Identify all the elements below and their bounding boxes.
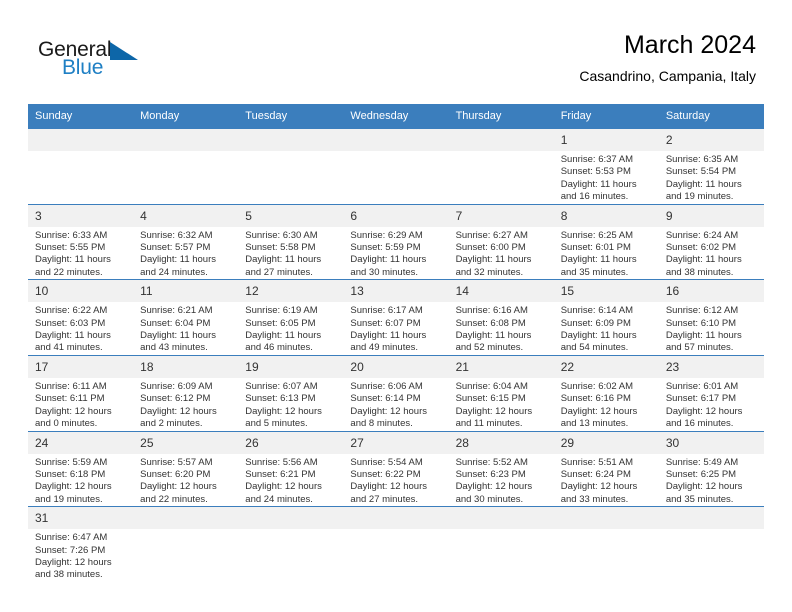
day-number: 4 — [133, 205, 238, 227]
day-details: Sunrise: 6:04 AMSunset: 6:15 PMDaylight:… — [449, 378, 554, 431]
day-number — [449, 507, 554, 529]
calendar-day-cell-empty — [238, 507, 343, 582]
day-detail-line: Sunset: 6:05 PM — [245, 318, 337, 330]
day-detail-line: Sunrise: 6:24 AM — [666, 230, 758, 242]
day-detail-line: Sunrise: 5:56 AM — [245, 457, 337, 469]
day-detail-line: Sunset: 5:57 PM — [140, 242, 232, 254]
day-number: 19 — [238, 356, 343, 378]
day-detail-line: Daylight: 11 hours — [561, 254, 653, 266]
day-number: 18 — [133, 356, 238, 378]
day-detail-line: Sunset: 6:20 PM — [140, 469, 232, 481]
day-details: Sunrise: 6:11 AMSunset: 6:11 PMDaylight:… — [28, 378, 133, 431]
day-detail-line: and 52 minutes. — [456, 342, 548, 354]
calendar-day-cell[interactable]: 19Sunrise: 6:07 AMSunset: 6:13 PMDayligh… — [238, 355, 343, 431]
day-detail-line: Sunset: 6:02 PM — [666, 242, 758, 254]
calendar-day-cell[interactable]: 2Sunrise: 6:35 AMSunset: 5:54 PMDaylight… — [659, 129, 764, 205]
page-title: March 2024 — [579, 30, 756, 60]
day-number: 2 — [659, 129, 764, 151]
day-number: 12 — [238, 280, 343, 302]
day-detail-line: Sunrise: 5:52 AM — [456, 457, 548, 469]
day-detail-line: Daylight: 12 hours — [350, 481, 442, 493]
day-detail-line: Sunset: 6:22 PM — [350, 469, 442, 481]
calendar-page: General Blue March 2024 Casandrino, Camp… — [0, 0, 792, 612]
day-detail-line: Daylight: 12 hours — [140, 406, 232, 418]
day-detail-line: and 54 minutes. — [561, 342, 653, 354]
day-number: 6 — [343, 205, 448, 227]
day-detail-line: Daylight: 12 hours — [666, 481, 758, 493]
day-detail-line: and 22 minutes. — [35, 267, 127, 279]
day-detail-line: and 8 minutes. — [350, 418, 442, 430]
day-detail-line: Daylight: 11 hours — [666, 179, 758, 191]
day-detail-line: and 46 minutes. — [245, 342, 337, 354]
day-detail-line: and 41 minutes. — [35, 342, 127, 354]
day-details: Sunrise: 5:51 AMSunset: 6:24 PMDaylight:… — [554, 454, 659, 507]
day-detail-line: Sunrise: 6:37 AM — [561, 154, 653, 166]
day-number: 8 — [554, 205, 659, 227]
calendar-day-cell-empty — [133, 129, 238, 205]
calendar-day-cell-empty — [238, 129, 343, 205]
day-details — [554, 529, 659, 532]
day-detail-line: and 30 minutes. — [456, 494, 548, 506]
calendar-day-cell[interactable]: 4Sunrise: 6:32 AMSunset: 5:57 PMDaylight… — [133, 204, 238, 280]
calendar-day-cell[interactable]: 5Sunrise: 6:30 AMSunset: 5:58 PMDaylight… — [238, 204, 343, 280]
weekday-header-tuesday: Tuesday — [238, 104, 343, 129]
weekday-header-row: SundayMondayTuesdayWednesdayThursdayFrid… — [28, 104, 764, 129]
day-detail-line: Sunrise: 6:25 AM — [561, 230, 653, 242]
day-detail-line: and 32 minutes. — [456, 267, 548, 279]
day-details: Sunrise: 6:21 AMSunset: 6:04 PMDaylight:… — [133, 302, 238, 355]
day-number — [449, 129, 554, 151]
day-number — [238, 507, 343, 529]
calendar-day-cell[interactable]: 3Sunrise: 6:33 AMSunset: 5:55 PMDaylight… — [28, 204, 133, 280]
day-number: 16 — [659, 280, 764, 302]
day-detail-line: Daylight: 12 hours — [35, 406, 127, 418]
day-details: Sunrise: 6:01 AMSunset: 6:17 PMDaylight:… — [659, 378, 764, 431]
day-number: 7 — [449, 205, 554, 227]
day-detail-line: Sunrise: 6:07 AM — [245, 381, 337, 393]
day-detail-line: Daylight: 11 hours — [456, 330, 548, 342]
day-details — [449, 151, 554, 154]
day-detail-line: Sunrise: 5:57 AM — [140, 457, 232, 469]
day-details: Sunrise: 5:54 AMSunset: 6:22 PMDaylight:… — [343, 454, 448, 507]
day-detail-line: Sunrise: 6:02 AM — [561, 381, 653, 393]
day-detail-line: Sunrise: 6:04 AM — [456, 381, 548, 393]
day-number: 5 — [238, 205, 343, 227]
calendar-day-cell-empty — [343, 507, 448, 582]
day-detail-line: and 13 minutes. — [561, 418, 653, 430]
day-number: 25 — [133, 432, 238, 454]
day-details — [133, 529, 238, 532]
day-detail-line: Sunset: 6:21 PM — [245, 469, 337, 481]
calendar-day-cell[interactable]: 25Sunrise: 5:57 AMSunset: 6:20 PMDayligh… — [133, 431, 238, 507]
day-detail-line: and 24 minutes. — [245, 494, 337, 506]
day-number: 29 — [554, 432, 659, 454]
day-detail-line: and 16 minutes. — [561, 191, 653, 203]
day-number: 20 — [343, 356, 448, 378]
day-detail-line: Sunset: 5:55 PM — [35, 242, 127, 254]
day-detail-line: Daylight: 11 hours — [140, 254, 232, 266]
day-number: 3 — [28, 205, 133, 227]
calendar-day-cell[interactable]: 7Sunrise: 6:27 AMSunset: 6:00 PMDaylight… — [449, 204, 554, 280]
day-details — [659, 529, 764, 532]
day-detail-line: Sunrise: 6:16 AM — [456, 305, 548, 317]
day-detail-line: Sunset: 5:58 PM — [245, 242, 337, 254]
page-header: General Blue March 2024 Casandrino, Camp… — [0, 0, 792, 100]
day-details: Sunrise: 6:27 AMSunset: 6:00 PMDaylight:… — [449, 227, 554, 280]
day-detail-line: Sunrise: 6:22 AM — [35, 305, 127, 317]
day-detail-line: Daylight: 11 hours — [561, 330, 653, 342]
calendar-week-row: 1Sunrise: 6:37 AMSunset: 5:53 PMDaylight… — [28, 129, 764, 205]
day-detail-line: Sunset: 6:16 PM — [561, 393, 653, 405]
calendar-day-cell[interactable]: 23Sunrise: 6:01 AMSunset: 6:17 PMDayligh… — [659, 355, 764, 431]
day-detail-line: Sunrise: 6:35 AM — [666, 154, 758, 166]
day-number: 31 — [28, 507, 133, 529]
brand-logo[interactable]: General Blue — [38, 39, 268, 91]
day-detail-line: and 43 minutes. — [140, 342, 232, 354]
day-number: 30 — [659, 432, 764, 454]
calendar-day-cell-empty — [554, 507, 659, 582]
day-detail-line: Sunrise: 6:14 AM — [561, 305, 653, 317]
day-number — [554, 507, 659, 529]
day-detail-line: Sunrise: 6:21 AM — [140, 305, 232, 317]
day-detail-line: Daylight: 12 hours — [456, 481, 548, 493]
day-detail-line: Sunrise: 6:11 AM — [35, 381, 127, 393]
day-detail-line: Sunrise: 5:54 AM — [350, 457, 442, 469]
day-detail-line: Daylight: 11 hours — [140, 330, 232, 342]
day-number: 27 — [343, 432, 448, 454]
day-detail-line: and 33 minutes. — [561, 494, 653, 506]
day-detail-line: Sunrise: 6:30 AM — [245, 230, 337, 242]
day-detail-line: and 35 minutes. — [666, 494, 758, 506]
day-detail-line: Sunset: 6:23 PM — [456, 469, 548, 481]
day-detail-line: and 27 minutes. — [350, 494, 442, 506]
day-detail-line: Sunset: 6:07 PM — [350, 318, 442, 330]
day-detail-line: Daylight: 12 hours — [561, 406, 653, 418]
day-detail-line: Daylight: 12 hours — [350, 406, 442, 418]
day-detail-line: and 38 minutes. — [666, 267, 758, 279]
day-detail-line: and 38 minutes. — [35, 569, 127, 581]
day-detail-line: Daylight: 12 hours — [35, 481, 127, 493]
day-detail-line: Daylight: 11 hours — [35, 254, 127, 266]
day-details: Sunrise: 6:07 AMSunset: 6:13 PMDaylight:… — [238, 378, 343, 431]
day-number: 26 — [238, 432, 343, 454]
day-number: 15 — [554, 280, 659, 302]
day-detail-line: Daylight: 11 hours — [350, 330, 442, 342]
day-detail-line: Sunrise: 6:06 AM — [350, 381, 442, 393]
day-detail-line: Sunrise: 6:29 AM — [350, 230, 442, 242]
day-number: 17 — [28, 356, 133, 378]
day-detail-line: and 24 minutes. — [140, 267, 232, 279]
day-details: Sunrise: 6:30 AMSunset: 5:58 PMDaylight:… — [238, 227, 343, 280]
day-details: Sunrise: 6:09 AMSunset: 6:12 PMDaylight:… — [133, 378, 238, 431]
calendar-day-cell[interactable]: 11Sunrise: 6:21 AMSunset: 6:04 PMDayligh… — [133, 280, 238, 356]
calendar-day-cell[interactable]: 21Sunrise: 6:04 AMSunset: 6:15 PMDayligh… — [449, 355, 554, 431]
day-details — [449, 529, 554, 532]
day-details: Sunrise: 6:25 AMSunset: 6:01 PMDaylight:… — [554, 227, 659, 280]
day-detail-line: Daylight: 12 hours — [666, 406, 758, 418]
weekday-header-thursday: Thursday — [449, 104, 554, 129]
day-detail-line: and 19 minutes. — [35, 494, 127, 506]
calendar-day-cell-empty — [133, 507, 238, 582]
calendar-day-cell[interactable]: 31Sunrise: 6:47 AMSunset: 7:26 PMDayligh… — [28, 507, 133, 582]
day-number: 13 — [343, 280, 448, 302]
day-detail-line: Daylight: 12 hours — [561, 481, 653, 493]
weekday-header-monday: Monday — [133, 104, 238, 129]
weekday-header-sunday: Sunday — [28, 104, 133, 129]
day-detail-line: and 19 minutes. — [666, 191, 758, 203]
day-detail-line: Sunset: 6:00 PM — [456, 242, 548, 254]
day-detail-line: Sunrise: 6:09 AM — [140, 381, 232, 393]
day-details: Sunrise: 5:59 AMSunset: 6:18 PMDaylight:… — [28, 454, 133, 507]
page-subtitle: Casandrino, Campania, Italy — [579, 66, 756, 86]
day-detail-line: Sunset: 5:59 PM — [350, 242, 442, 254]
day-detail-line: and 22 minutes. — [140, 494, 232, 506]
calendar-day-cell[interactable]: 24Sunrise: 5:59 AMSunset: 6:18 PMDayligh… — [28, 431, 133, 507]
flag-triangle-icon — [110, 42, 138, 64]
weekday-header-saturday: Saturday — [659, 104, 764, 129]
day-detail-line: and 11 minutes. — [456, 418, 548, 430]
calendar-day-cell-empty — [659, 507, 764, 582]
day-number — [659, 507, 764, 529]
day-detail-line: Daylight: 11 hours — [561, 179, 653, 191]
day-detail-line: Sunset: 6:15 PM — [456, 393, 548, 405]
day-number: 9 — [659, 205, 764, 227]
day-details — [343, 151, 448, 154]
day-details: Sunrise: 5:49 AMSunset: 6:25 PMDaylight:… — [659, 454, 764, 507]
day-detail-line: and 49 minutes. — [350, 342, 442, 354]
calendar-day-cell-empty — [449, 129, 554, 205]
day-detail-line: and 5 minutes. — [245, 418, 337, 430]
day-detail-line: Sunset: 5:54 PM — [666, 166, 758, 178]
day-number — [28, 129, 133, 151]
day-details — [343, 529, 448, 532]
calendar-day-cell[interactable]: 18Sunrise: 6:09 AMSunset: 6:12 PMDayligh… — [133, 355, 238, 431]
day-detail-line: Sunrise: 5:49 AM — [666, 457, 758, 469]
calendar-day-cell[interactable]: 14Sunrise: 6:16 AMSunset: 6:08 PMDayligh… — [449, 280, 554, 356]
day-detail-line: Sunset: 6:08 PM — [456, 318, 548, 330]
day-detail-line: Sunrise: 6:33 AM — [35, 230, 127, 242]
day-details: Sunrise: 5:52 AMSunset: 6:23 PMDaylight:… — [449, 454, 554, 507]
day-detail-line: Sunset: 6:12 PM — [140, 393, 232, 405]
day-detail-line: Sunrise: 6:12 AM — [666, 305, 758, 317]
day-detail-line: Sunset: 6:11 PM — [35, 393, 127, 405]
day-detail-line: Sunset: 5:53 PM — [561, 166, 653, 178]
calendar-day-cell[interactable]: 28Sunrise: 5:52 AMSunset: 6:23 PMDayligh… — [449, 431, 554, 507]
calendar-week-row: 10Sunrise: 6:22 AMSunset: 6:03 PMDayligh… — [28, 280, 764, 356]
day-detail-line: Sunrise: 5:59 AM — [35, 457, 127, 469]
calendar-day-cell[interactable]: 29Sunrise: 5:51 AMSunset: 6:24 PMDayligh… — [554, 431, 659, 507]
day-number: 1 — [554, 129, 659, 151]
day-details: Sunrise: 6:14 AMSunset: 6:09 PMDaylight:… — [554, 302, 659, 355]
day-details: Sunrise: 6:35 AMSunset: 5:54 PMDaylight:… — [659, 151, 764, 204]
calendar-week-row: 3Sunrise: 6:33 AMSunset: 5:55 PMDaylight… — [28, 204, 764, 280]
calendar-day-cell[interactable]: 17Sunrise: 6:11 AMSunset: 6:11 PMDayligh… — [28, 355, 133, 431]
calendar-day-cell[interactable]: 8Sunrise: 6:25 AMSunset: 6:01 PMDaylight… — [554, 204, 659, 280]
day-detail-line: and 35 minutes. — [561, 267, 653, 279]
calendar-week-row: 17Sunrise: 6:11 AMSunset: 6:11 PMDayligh… — [28, 355, 764, 431]
calendar-day-cell-empty — [28, 129, 133, 205]
day-detail-line: Daylight: 12 hours — [456, 406, 548, 418]
calendar-day-cell[interactable]: 20Sunrise: 6:06 AMSunset: 6:14 PMDayligh… — [343, 355, 448, 431]
day-detail-line: Sunset: 6:10 PM — [666, 318, 758, 330]
day-detail-line: and 0 minutes. — [35, 418, 127, 430]
day-detail-line: Daylight: 11 hours — [666, 254, 758, 266]
weekday-header-friday: Friday — [554, 104, 659, 129]
day-detail-line: Daylight: 11 hours — [35, 330, 127, 342]
calendar-week-row: 24Sunrise: 5:59 AMSunset: 6:18 PMDayligh… — [28, 431, 764, 507]
calendar-week-row: 31Sunrise: 6:47 AMSunset: 7:26 PMDayligh… — [28, 507, 764, 582]
day-detail-line: Sunset: 6:09 PM — [561, 318, 653, 330]
brand-name-bottom: Blue — [62, 57, 103, 78]
calendar-grid: SundayMondayTuesdayWednesdayThursdayFrid… — [28, 104, 764, 582]
day-detail-line: Sunset: 6:25 PM — [666, 469, 758, 481]
day-detail-line: and 27 minutes. — [245, 267, 337, 279]
day-number: 11 — [133, 280, 238, 302]
calendar-day-cell[interactable]: 22Sunrise: 6:02 AMSunset: 6:16 PMDayligh… — [554, 355, 659, 431]
day-detail-line: Sunrise: 6:27 AM — [456, 230, 548, 242]
day-detail-line: Daylight: 11 hours — [245, 254, 337, 266]
calendar-day-cell-empty — [449, 507, 554, 582]
day-detail-line: Daylight: 11 hours — [666, 330, 758, 342]
day-detail-line: Sunset: 6:13 PM — [245, 393, 337, 405]
day-number: 22 — [554, 356, 659, 378]
day-detail-line: Sunset: 6:04 PM — [140, 318, 232, 330]
calendar-day-cell-empty — [343, 129, 448, 205]
day-detail-line: Sunset: 7:26 PM — [35, 545, 127, 557]
day-number: 23 — [659, 356, 764, 378]
day-detail-line: and 2 minutes. — [140, 418, 232, 430]
calendar-day-cell[interactable]: 9Sunrise: 6:24 AMSunset: 6:02 PMDaylight… — [659, 204, 764, 280]
day-detail-line: Daylight: 12 hours — [140, 481, 232, 493]
day-details: Sunrise: 5:57 AMSunset: 6:20 PMDaylight:… — [133, 454, 238, 507]
day-detail-line: Sunset: 6:17 PM — [666, 393, 758, 405]
calendar-day-cell[interactable]: 15Sunrise: 6:14 AMSunset: 6:09 PMDayligh… — [554, 280, 659, 356]
day-number — [133, 507, 238, 529]
day-details: Sunrise: 6:17 AMSunset: 6:07 PMDaylight:… — [343, 302, 448, 355]
day-detail-line: Daylight: 11 hours — [245, 330, 337, 342]
calendar-day-cell[interactable]: 12Sunrise: 6:19 AMSunset: 6:05 PMDayligh… — [238, 280, 343, 356]
calendar-day-cell[interactable]: 1Sunrise: 6:37 AMSunset: 5:53 PMDaylight… — [554, 129, 659, 205]
calendar-day-cell[interactable]: 27Sunrise: 5:54 AMSunset: 6:22 PMDayligh… — [343, 431, 448, 507]
day-details: Sunrise: 6:47 AMSunset: 7:26 PMDaylight:… — [28, 529, 133, 582]
day-detail-line: Sunrise: 6:19 AM — [245, 305, 337, 317]
calendar-head: SundayMondayTuesdayWednesdayThursdayFrid… — [28, 104, 764, 129]
day-detail-line: Sunrise: 6:01 AM — [666, 381, 758, 393]
day-details: Sunrise: 6:37 AMSunset: 5:53 PMDaylight:… — [554, 151, 659, 204]
day-detail-line: Daylight: 12 hours — [35, 557, 127, 569]
day-detail-line: Sunset: 6:01 PM — [561, 242, 653, 254]
day-details — [238, 151, 343, 154]
day-detail-line: and 16 minutes. — [666, 418, 758, 430]
day-number: 21 — [449, 356, 554, 378]
day-detail-line: Sunrise: 6:32 AM — [140, 230, 232, 242]
calendar-day-cell[interactable]: 26Sunrise: 5:56 AMSunset: 6:21 PMDayligh… — [238, 431, 343, 507]
day-detail-line: Daylight: 12 hours — [245, 406, 337, 418]
day-details: Sunrise: 6:16 AMSunset: 6:08 PMDaylight:… — [449, 302, 554, 355]
calendar-day-cell[interactable]: 16Sunrise: 6:12 AMSunset: 6:10 PMDayligh… — [659, 280, 764, 356]
day-details: Sunrise: 5:56 AMSunset: 6:21 PMDaylight:… — [238, 454, 343, 507]
weekday-header-wednesday: Wednesday — [343, 104, 448, 129]
day-number — [238, 129, 343, 151]
day-detail-line: Daylight: 12 hours — [245, 481, 337, 493]
day-detail-line: Sunrise: 6:47 AM — [35, 532, 127, 544]
calendar-day-cell[interactable]: 10Sunrise: 6:22 AMSunset: 6:03 PMDayligh… — [28, 280, 133, 356]
day-details: Sunrise: 6:06 AMSunset: 6:14 PMDaylight:… — [343, 378, 448, 431]
day-number — [343, 507, 448, 529]
day-details: Sunrise: 6:02 AMSunset: 6:16 PMDaylight:… — [554, 378, 659, 431]
day-number: 28 — [449, 432, 554, 454]
day-detail-line: Sunrise: 5:51 AM — [561, 457, 653, 469]
day-details: Sunrise: 6:19 AMSunset: 6:05 PMDaylight:… — [238, 302, 343, 355]
day-details: Sunrise: 6:29 AMSunset: 5:59 PMDaylight:… — [343, 227, 448, 280]
day-detail-line: Sunset: 6:14 PM — [350, 393, 442, 405]
title-block: March 2024 Casandrino, Campania, Italy — [579, 30, 756, 86]
day-detail-line: Sunset: 6:03 PM — [35, 318, 127, 330]
day-detail-line: Sunset: 6:18 PM — [35, 469, 127, 481]
day-details — [238, 529, 343, 532]
day-details: Sunrise: 6:22 AMSunset: 6:03 PMDaylight:… — [28, 302, 133, 355]
day-detail-line: and 57 minutes. — [666, 342, 758, 354]
calendar-day-cell[interactable]: 13Sunrise: 6:17 AMSunset: 6:07 PMDayligh… — [343, 280, 448, 356]
calendar-day-cell[interactable]: 6Sunrise: 6:29 AMSunset: 5:59 PMDaylight… — [343, 204, 448, 280]
day-number — [133, 129, 238, 151]
calendar-body: 1Sunrise: 6:37 AMSunset: 5:53 PMDaylight… — [28, 129, 764, 582]
day-details: Sunrise: 6:32 AMSunset: 5:57 PMDaylight:… — [133, 227, 238, 280]
day-number: 24 — [28, 432, 133, 454]
day-number — [343, 129, 448, 151]
day-number: 14 — [449, 280, 554, 302]
day-details: Sunrise: 6:24 AMSunset: 6:02 PMDaylight:… — [659, 227, 764, 280]
day-detail-line: Daylight: 11 hours — [456, 254, 548, 266]
day-detail-line: and 30 minutes. — [350, 267, 442, 279]
day-details — [133, 151, 238, 154]
day-detail-line: Daylight: 11 hours — [350, 254, 442, 266]
day-details: Sunrise: 6:33 AMSunset: 5:55 PMDaylight:… — [28, 227, 133, 280]
day-detail-line: Sunrise: 6:17 AM — [350, 305, 442, 317]
calendar-day-cell[interactable]: 30Sunrise: 5:49 AMSunset: 6:25 PMDayligh… — [659, 431, 764, 507]
day-details — [28, 151, 133, 154]
day-detail-line: Sunset: 6:24 PM — [561, 469, 653, 481]
day-details: Sunrise: 6:12 AMSunset: 6:10 PMDaylight:… — [659, 302, 764, 355]
day-number: 10 — [28, 280, 133, 302]
